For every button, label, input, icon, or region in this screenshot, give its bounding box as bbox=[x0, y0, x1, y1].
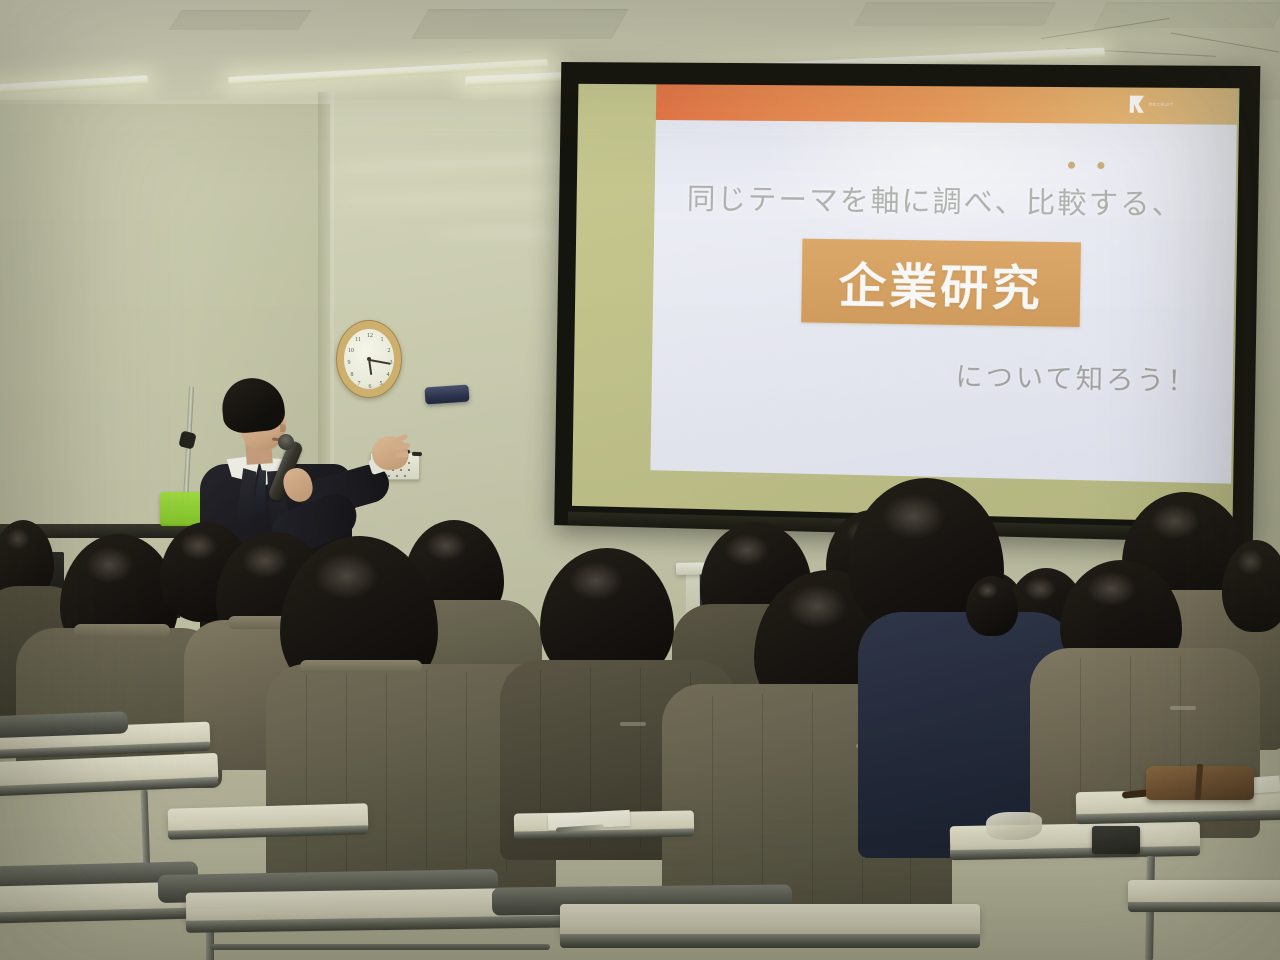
student-collar bbox=[300, 660, 422, 673]
slide-highlight-text: 企業研究 bbox=[838, 246, 1043, 319]
clock-numeral: 9 bbox=[345, 359, 353, 367]
whiteboard-marker bbox=[412, 452, 422, 456]
emphasis-dot bbox=[1068, 162, 1075, 169]
clock-numeral: 12 bbox=[366, 332, 374, 340]
slide-line-3: について知ろう！ bbox=[955, 355, 1198, 399]
ceiling-grid-line bbox=[1171, 32, 1280, 52]
uniform-shoulder-tab bbox=[1170, 706, 1196, 710]
ceiling-tile bbox=[854, 2, 1057, 26]
slide-line-1: 同じテーマを軸に調べ、比較する、 bbox=[654, 175, 1217, 224]
ceiling-tile bbox=[168, 10, 311, 30]
student-collar bbox=[74, 624, 170, 637]
clock-numeral: 11 bbox=[354, 336, 362, 344]
clock-hour-hand bbox=[368, 360, 372, 375]
clock-numeral: 2 bbox=[385, 347, 393, 355]
desk-edge bbox=[560, 934, 980, 948]
student-head bbox=[966, 576, 1018, 636]
projection-screen-surface: RECRUIT 同じテーマを軸に調べ、比較する、 企業研究 について知ろう！ bbox=[572, 84, 1240, 522]
presenter-hair bbox=[219, 375, 286, 435]
whiteboard-eraser bbox=[424, 384, 469, 404]
desk-rail bbox=[210, 944, 550, 950]
slide-header-bar: RECRUIT bbox=[656, 84, 1238, 124]
emphasis-dot bbox=[1097, 162, 1104, 169]
student-desk bbox=[560, 904, 980, 938]
ceiling-tile bbox=[411, 9, 628, 39]
black-case bbox=[1092, 826, 1140, 854]
presenter-nose bbox=[280, 424, 286, 432]
emphasis-dots bbox=[655, 152, 1218, 176]
projection-screen-frame: RECRUIT 同じテーマを軸に調べ、比較する、 企業研究 について知ろう！ bbox=[554, 62, 1260, 543]
ceiling-tile bbox=[1094, 2, 1280, 28]
desk-edge bbox=[1128, 902, 1280, 912]
slide-logo: RECRUIT bbox=[1130, 96, 1174, 114]
slide-logo-wordmark: RECRUIT bbox=[1149, 102, 1174, 107]
clock-numeral: 10 bbox=[347, 347, 355, 355]
uniform-shoulder-tab bbox=[620, 722, 646, 726]
crumpled-paper bbox=[986, 812, 1042, 840]
slide-highlight-box: 企業研究 bbox=[801, 239, 1081, 327]
projected-slide: RECRUIT 同じテーマを軸に調べ、比較する、 企業研究 について知ろう！ bbox=[650, 84, 1237, 483]
r-logo-leg bbox=[1134, 104, 1144, 113]
clock-center-pin bbox=[367, 357, 371, 361]
clock-numeral: 1 bbox=[378, 336, 386, 344]
r-logo-mark bbox=[1130, 96, 1146, 113]
classroom-photo: 12 1 2 3 4 5 6 7 8 9 10 11 bbox=[0, 0, 1280, 960]
